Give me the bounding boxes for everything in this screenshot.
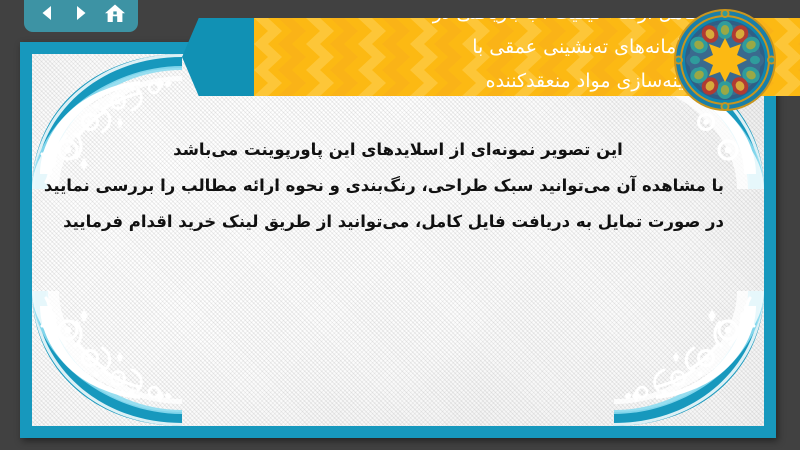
- home-icon: [104, 3, 126, 24]
- next-slide-button[interactable]: [67, 0, 95, 26]
- slide-viewer: این تصویر نمونه‌ای از اسلایدهای این پاور…: [0, 0, 800, 450]
- arabesque-corner-ornament-bottom-left: [32, 291, 182, 426]
- navigation-toolbar: [24, 0, 138, 32]
- banner-ribbon-tail: [182, 18, 258, 96]
- previous-slide-button[interactable]: [33, 0, 61, 26]
- arabesque-corner-ornament-bottom-right: [614, 291, 764, 426]
- slide-texture-overlay: [32, 54, 764, 426]
- slide-body-text: این تصویر نمونه‌ای از اسلایدهای این پاور…: [72, 132, 724, 240]
- persian-medallion-ornament: [673, 8, 777, 112]
- body-line-1: این تصویر نمونه‌ای از اسلایدهای این پاور…: [72, 132, 724, 168]
- home-button[interactable]: [101, 0, 129, 26]
- triangle-left-icon: [37, 3, 57, 23]
- body-line-3: در صورت تمایل به دریافت فایل کامل، می‌تو…: [72, 204, 724, 240]
- triangle-right-icon: [71, 3, 91, 23]
- slide-canvas: این تصویر نمونه‌ای از اسلایدهای این پاور…: [32, 54, 764, 426]
- body-line-2: با مشاهده آن می‌توانید سبک طراحی، رنگ‌بن…: [72, 168, 724, 204]
- presentation-slide[interactable]: این تصویر نمونه‌ای از اسلایدهای این پاور…: [20, 42, 776, 438]
